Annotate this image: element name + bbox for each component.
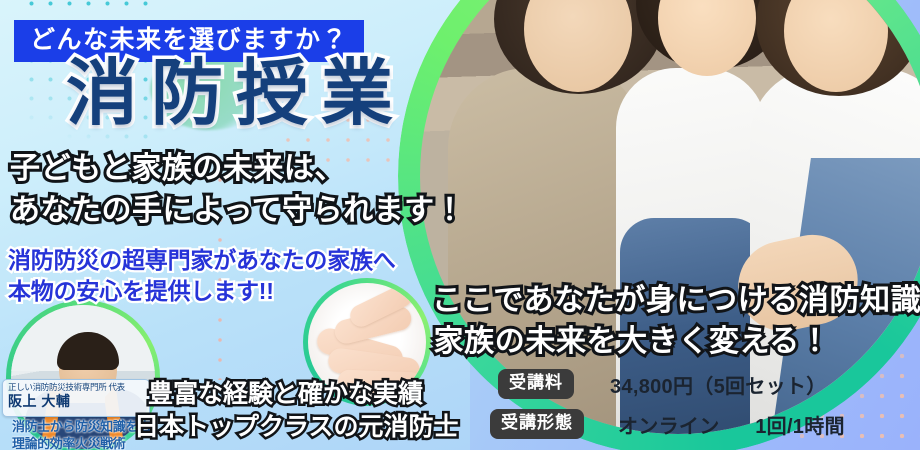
- spec-label-format: 受講形態: [490, 409, 584, 439]
- spec-row-format: 受講形態 オンライン 1回/1時間: [490, 409, 845, 439]
- spec-value-format: オンライン 1回/1時間: [618, 410, 845, 439]
- spec-row-fee: 受講料 34,800円（5回セット）: [498, 369, 827, 399]
- lead-copy: 子どもと家族の未来は、 あなたの手によって守られます！: [10, 148, 465, 232]
- experience-claim: 豊富な経験と確かな実績 日本トップクラスの元消防士: [148, 378, 459, 444]
- spec-label-fee: 受講料: [498, 369, 574, 399]
- expert-claim-line-2: 本物の安心を提供します!!: [8, 276, 396, 307]
- lead-line-2: あなたの手によって守られます！: [10, 190, 465, 232]
- spec-value-format-mode: オンライン: [618, 416, 720, 438]
- instructor-name-card: 正しい消防防災技術専門所 代表 阪上 大輔: [2, 379, 150, 417]
- instructor-role: 正しい消防防災技術専門所 代表: [8, 382, 144, 393]
- spec-value-format-duration: 1回/1時間: [755, 416, 845, 438]
- lead-line-1: 子どもと家族の未来は、: [10, 148, 465, 190]
- spec-value-fee: 34,800円（5回セット）: [610, 370, 827, 399]
- instructor-name: 阪上 大輔: [8, 393, 144, 410]
- expert-claim-line-1: 消防防災の超専門家があなたの家族へ: [8, 245, 396, 276]
- knowledge-claim-line-1: ここであなたが身につける消防知識が: [432, 280, 832, 321]
- knowledge-claim: ここであなたが身につける消防知識が 家族の未来を大きく変える！: [432, 280, 832, 362]
- knowledge-claim-line-2: 家族の未来を大きく変える！: [432, 321, 832, 362]
- experience-claim-line-1: 豊富な経験と確かな実績: [148, 378, 459, 411]
- page-title: 消防授業: [66, 52, 406, 136]
- experience-claim-line-2: 日本トップクラスの元消防士: [134, 411, 459, 444]
- expert-claim: 消防防災の超専門家があなたの家族へ 本物の安心を提供します!!: [8, 245, 396, 307]
- promo-banner: 正しい消防防災技術専門所 代表 阪上 大輔 消防士から防災知識を広 理論的効率火…: [0, 0, 920, 450]
